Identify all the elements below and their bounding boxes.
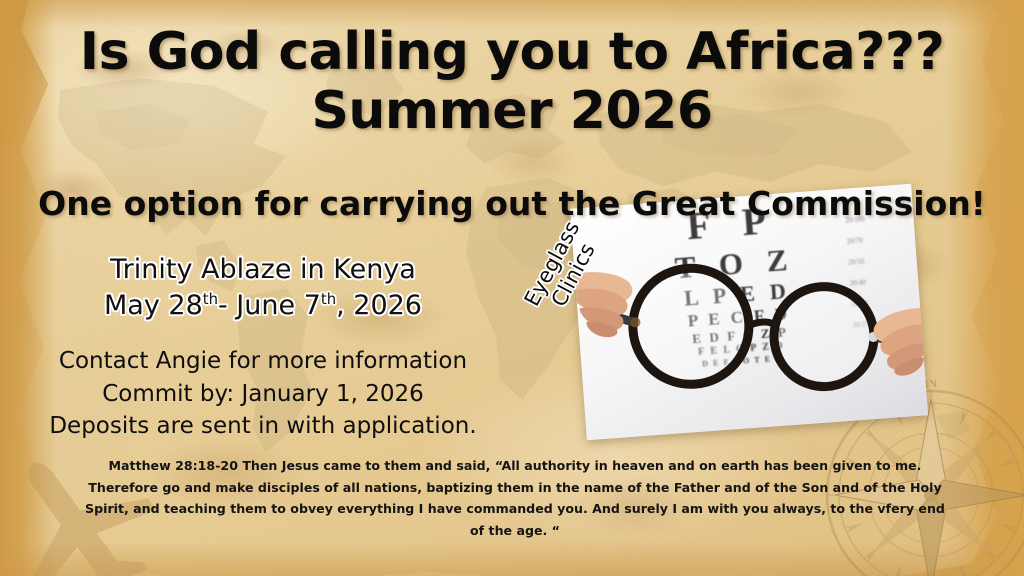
trip-date-end: - June 7	[218, 290, 321, 321]
trip-organization: Trinity Ablaze in Kenya	[48, 252, 478, 288]
trip-date-start: May 28	[104, 290, 203, 321]
subtitle: One option for carrying out the Great Co…	[0, 184, 1024, 223]
title-line-2: Summer 2026	[0, 80, 1024, 143]
contact-line: Contact Angie for more information	[38, 345, 488, 378]
trip-details: Trinity Ablaze in Kenya May 28th- June 7…	[48, 252, 478, 324]
scripture-passage: Matthew 28:18-20 Then Jesus came to them…	[80, 455, 950, 542]
trip-date-end-ordinal: th	[321, 290, 336, 308]
info-details: Contact Angie for more information Commi…	[38, 345, 488, 443]
poster-canvas: N S F P T O Z L P E D P E C F D E D F C …	[0, 0, 1024, 576]
title-line-1: Is God calling you to Africa???	[0, 24, 1024, 80]
trip-dates: May 28th- June 7th, 2026	[48, 288, 478, 324]
deposits-line: Deposits are sent in with application.	[38, 410, 488, 443]
page-title: Is God calling you to Africa??? Summer 2…	[0, 24, 1024, 144]
commit-line: Commit by: January 1, 2026	[38, 378, 488, 411]
hand-right-icon	[844, 302, 928, 382]
trip-date-start-ordinal: th	[203, 290, 218, 308]
trip-date-year: , 2026	[336, 290, 422, 321]
